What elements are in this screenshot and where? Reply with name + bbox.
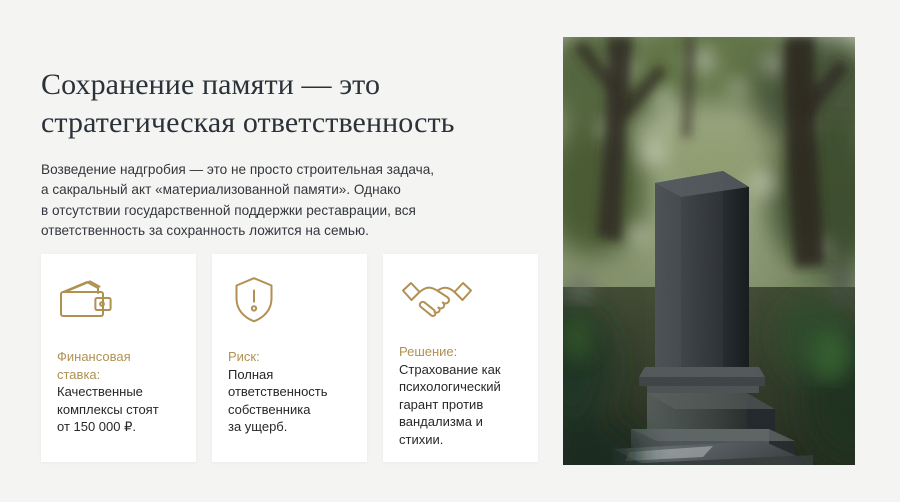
info-card-body-line-5: стихии. — [399, 431, 522, 449]
info-card-solution: Решение: Страхование как психологический… — [383, 254, 538, 462]
info-card-list: Финансовая ставка: Качественные комплекс… — [41, 254, 538, 462]
wallet-icon — [57, 272, 180, 328]
info-card-title-line-2: ставка: — [57, 366, 180, 384]
intro-paragraph-line-2: а сакральный акт «материализованной памя… — [41, 180, 511, 201]
info-card-body: Полная ответственность собственника за у… — [228, 366, 351, 436]
info-card-body-line-3: собственника — [228, 401, 351, 419]
info-card-body: Качественные комплексы стоят от 150 000 … — [57, 383, 180, 436]
info-card-risk: Риск: Полная ответственность собственник… — [212, 254, 367, 462]
shield-alert-icon — [228, 272, 351, 328]
info-card-title: Риск: — [228, 348, 351, 366]
info-card-body-line-1: Качественные — [57, 383, 180, 401]
info-card-body-line-2: комплексы стоят — [57, 401, 180, 419]
handshake-icon — [399, 272, 522, 323]
info-card-body-line-3: гарант против — [399, 396, 522, 414]
info-card-title-line-1: Решение: — [399, 343, 522, 361]
intro-paragraph-line-4: ответственность за сохранность ложится н… — [41, 221, 511, 242]
intro-paragraph-line-1: Возведение надгробия — это не просто стр… — [41, 160, 511, 181]
info-card-body-line-2: психологический — [399, 378, 522, 396]
info-card-body-line-4: вандализма и — [399, 413, 522, 431]
info-card-title: Финансовая ставка: — [57, 348, 180, 383]
info-card-title-line-1: Финансовая — [57, 348, 180, 366]
info-card-body-line-4: за ущерб. — [228, 418, 351, 436]
info-card-body: Страхование как психологический гарант п… — [399, 361, 522, 449]
intro-paragraph-line-3: в отсутствии государственной поддержки р… — [41, 201, 511, 222]
intro-paragraph: Возведение надгробия — это не просто стр… — [41, 160, 511, 242]
info-card-body-line-1: Полная — [228, 366, 351, 384]
slide-root: Сохранение памяти — это стратегическая о… — [0, 0, 900, 502]
left-content-column: Сохранение памяти — это стратегическая о… — [41, 0, 533, 502]
info-card-title: Решение: — [399, 343, 522, 361]
info-card-financial-stake: Финансовая ставка: Качественные комплекс… — [41, 254, 196, 462]
page-title: Сохранение памяти — это стратегическая о… — [41, 66, 541, 142]
info-card-body-line-2: ответственность — [228, 383, 351, 401]
info-card-body-line-3: от 150 000 ₽. — [57, 418, 180, 436]
info-card-title-line-1: Риск: — [228, 348, 351, 366]
info-card-body-line-1: Страхование как — [399, 361, 522, 379]
page-title-line-1: Сохранение памяти — это — [41, 66, 541, 104]
photo-illustration — [563, 37, 855, 465]
page-title-line-2: стратегическая ответственность — [41, 104, 541, 142]
cemetery-granite-monument-photo — [563, 37, 855, 465]
